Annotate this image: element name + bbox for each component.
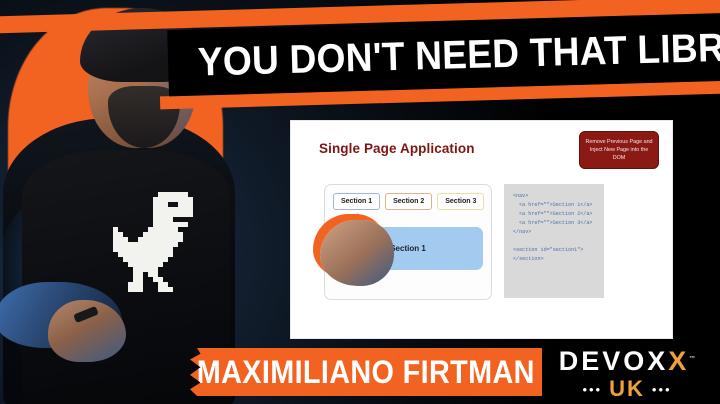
devoxx-word-main: DEVOX	[559, 346, 669, 376]
devoxx-region-row: ••• UK •••	[548, 378, 706, 400]
dots-left-icon: •••	[582, 383, 602, 396]
spa-tab-section-2: Section 2	[385, 193, 432, 210]
dots-right-icon: •••	[652, 383, 672, 396]
devoxx-logo: DEVOXX™ ••• UK •••	[548, 348, 706, 400]
video-thumbnail: YOU DON'T NEED THAT LIBRARY Single Page …	[0, 0, 720, 404]
speaker-name-banner: MAXIMILIANO FIRTMAN	[190, 348, 542, 396]
slide-code-text: <nav> <a href="">Section 1</a> <a href="…	[513, 192, 595, 265]
devoxx-wordmark: DEVOXX™	[548, 348, 706, 375]
devoxx-region-text: UK	[609, 378, 645, 400]
slide-code-block: <nav> <a href="">Section 1</a> <a href="…	[504, 184, 604, 298]
devoxx-word-accent-x: X	[668, 346, 689, 376]
spa-tab-section-3: Section 3	[437, 193, 484, 210]
spa-tab-section-1: Section 1	[333, 193, 380, 210]
headline-text: YOU DON'T NEED THAT LIBRARY	[168, 26, 720, 84]
slide-title: Single Page Application	[319, 141, 475, 156]
speaker-name-text: MAXIMILIANO FIRTMAN	[197, 354, 535, 391]
slide-callout-box: Remove Previous Page and Inject New Page…	[579, 131, 659, 169]
speaker-hand-overlay	[320, 220, 394, 286]
spa-tab-list: Section 1 Section 2 Section 3	[333, 193, 484, 210]
pixel-dinosaur-icon	[108, 192, 114, 198]
trademark-icon: ™	[689, 356, 695, 362]
